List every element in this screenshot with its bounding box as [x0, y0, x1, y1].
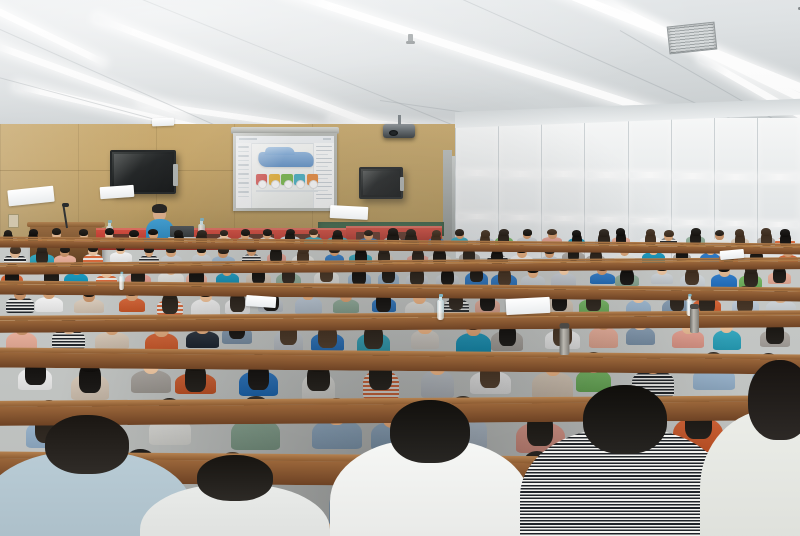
audience-hair [691, 228, 701, 235]
slide-color-box [269, 174, 280, 185]
foreground-head [748, 360, 800, 440]
panel-light-reflection [673, 173, 712, 179]
panel-light-reflection [673, 220, 712, 225]
hvac-vent [667, 22, 718, 55]
thermos-flask [690, 308, 699, 333]
audience-hair [523, 229, 532, 235]
audience-hair [735, 229, 744, 237]
audience-hair [309, 229, 318, 235]
slide-left-sidebar [236, 143, 252, 208]
audience-hair [105, 228, 114, 235]
audience-seating-area [0, 236, 800, 536]
panel-light-reflection [587, 217, 626, 222]
panel-light-reflection [501, 171, 540, 177]
audience-hair [364, 230, 373, 237]
foreground-head [197, 455, 273, 501]
paper-handout [100, 185, 135, 199]
audience-hair [780, 229, 789, 237]
water-bottle [437, 300, 444, 320]
water-bottle [119, 276, 124, 290]
panel-light-reflection [716, 221, 755, 226]
slide-caption-line [256, 190, 318, 192]
audience-hair [241, 229, 250, 236]
thermos-flask [560, 328, 570, 356]
audience-hair [599, 229, 609, 237]
audience-hair [664, 230, 674, 237]
paper-handout [330, 205, 369, 220]
audience-hair [333, 230, 342, 237]
sprinkler-head [408, 34, 413, 43]
audience-hair [455, 229, 464, 236]
audience-hair [129, 230, 139, 237]
panel-light-reflection [716, 174, 755, 180]
audience-hair [29, 229, 38, 236]
audience-hair [197, 230, 207, 237]
panel-light-reflection [501, 215, 540, 220]
panel-light-reflection [630, 172, 669, 178]
lecture-hall-photo [0, 0, 800, 536]
paper-handout [506, 297, 551, 315]
slide-color-box [256, 174, 267, 185]
slide-diagram-shape [257, 152, 315, 167]
audience-hair [616, 228, 625, 236]
audience-hair [174, 230, 183, 237]
panel-light-reflection [587, 172, 626, 178]
audience-hair [481, 230, 490, 238]
panel-light-reflection [760, 174, 799, 180]
slide-color-boxes [256, 174, 318, 185]
panel-light-reflection [458, 170, 497, 176]
audience-hair [263, 229, 272, 235]
wall-monitor-right [359, 167, 403, 199]
projection-screen [233, 133, 337, 211]
slide-color-box [281, 174, 292, 185]
audience-hair [388, 228, 398, 236]
paper-handout [246, 295, 277, 308]
audience-hair [499, 229, 508, 236]
slide-color-box [307, 174, 318, 185]
wall-outlet [8, 214, 19, 228]
door-frame [443, 150, 452, 245]
audience-hair [572, 230, 581, 237]
ceiling-projector [383, 124, 415, 138]
audience-hair [220, 230, 229, 236]
audience-hair [406, 229, 416, 237]
foreground-head [390, 400, 470, 463]
foreground-head [45, 415, 129, 474]
presenter-hair [152, 204, 167, 213]
audience-hair [148, 229, 158, 235]
projected-slide [236, 136, 334, 208]
foreground-head [583, 385, 667, 454]
audience-hair [646, 229, 656, 237]
slide-color-box [294, 174, 305, 185]
microphone-head [62, 203, 69, 207]
audience-hair [79, 229, 88, 235]
panel-light-reflection [458, 214, 497, 219]
panel-light-reflection [544, 171, 583, 177]
audience-hair [761, 228, 771, 236]
ceiling-light-strip [94, 14, 405, 139]
panel-light-reflection [544, 216, 583, 221]
paper-handout [152, 118, 174, 127]
audience-hair [432, 230, 441, 237]
panel-light-reflection [630, 218, 669, 223]
audience-hair [286, 229, 295, 236]
ceiling-light-strip [0, 40, 189, 118]
panel-light-reflection [760, 222, 799, 227]
audience-hair [547, 229, 557, 236]
audience-hair [715, 230, 724, 237]
ceiling-light-strip [0, 0, 106, 66]
